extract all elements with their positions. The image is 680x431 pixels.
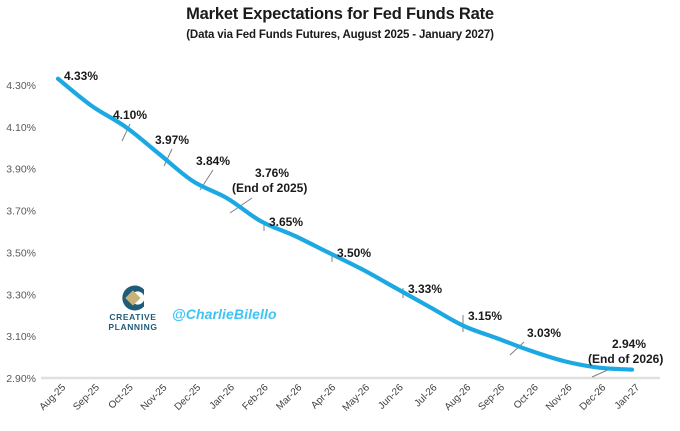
y-axis-tick-label: 4.10% xyxy=(6,122,36,134)
x-axis-tick-label: Aug-25 xyxy=(38,382,69,413)
data-point-label: 3.97% xyxy=(155,133,189,147)
y-axis-tick-label: 4.30% xyxy=(6,80,36,92)
chart-annotation-label: (End of 2025) xyxy=(232,181,307,195)
x-axis-tick-label: Apr-26 xyxy=(309,382,338,411)
chart-plot-area: 4.30%4.10%3.90%3.70%3.50%3.30%3.10%2.90%… xyxy=(0,0,680,431)
data-point-label: 3.03% xyxy=(527,326,561,340)
x-axis-tick-label: Jan-26 xyxy=(208,382,238,412)
x-axis-tick-label: Sep-25 xyxy=(71,382,102,413)
x-axis-tick-label: Mar-26 xyxy=(274,382,304,412)
x-axis-tick-label: Jul-26 xyxy=(412,382,439,409)
data-point-label: 3.15% xyxy=(468,309,502,323)
x-axis-tick-label: Nov-25 xyxy=(139,382,170,413)
x-axis-tick-label: Oct-26 xyxy=(512,382,541,411)
chart-annotation-label: (End of 2026) xyxy=(588,352,663,366)
x-axis-tick-label: Feb-26 xyxy=(241,382,271,412)
y-axis-tick-label: 3.70% xyxy=(6,206,36,218)
logo-line-2: PLANNING xyxy=(100,323,166,333)
social-handle: @CharlieBilello xyxy=(172,306,277,322)
y-axis-tick-label: 3.10% xyxy=(6,331,36,343)
x-axis-tick-label: Dec-26 xyxy=(578,382,609,413)
data-point-label: 4.10% xyxy=(113,108,147,122)
data-point-label: 3.50% xyxy=(337,246,371,260)
x-axis-tick-label: Jun-26 xyxy=(376,382,406,412)
y-axis-tick-label: 3.90% xyxy=(6,164,36,176)
data-point-label: 3.76% xyxy=(255,166,289,180)
y-axis-tick-label: 3.30% xyxy=(6,289,36,301)
x-axis-tick-labels: Aug-25Sep-25Oct-25Nov-25Dec-25Jan-26Feb-… xyxy=(38,382,643,414)
y-axis-tick-labels: 4.30%4.10%3.90%3.70%3.50%3.30%3.10%2.90% xyxy=(6,80,36,385)
creative-planning-c-logo-icon xyxy=(114,283,152,313)
chart-annotations: (End of 2025)(End of 2026) xyxy=(232,181,663,366)
x-axis-tick-label: May-26 xyxy=(341,382,373,414)
y-axis-tick-label: 2.90% xyxy=(6,373,36,385)
logo-wordmark: CREATIVE PLANNING xyxy=(100,313,166,332)
x-axis-tick-label: Sep-26 xyxy=(476,382,507,413)
chart-container: Market Expectations for Fed Funds Rate (… xyxy=(0,0,680,431)
data-point-label: 3.65% xyxy=(269,215,303,229)
data-point-label: 4.33% xyxy=(64,69,98,83)
x-axis-tick-label: Dec-25 xyxy=(173,382,204,413)
data-point-label: 3.33% xyxy=(408,282,442,296)
y-axis-tick-label: 3.50% xyxy=(6,247,36,259)
x-axis-tick-label: Oct-25 xyxy=(107,382,136,411)
data-point-label: 2.94% xyxy=(612,337,646,351)
x-axis-tick-label: Nov-26 xyxy=(544,382,575,413)
creative-planning-logo: CREATIVE PLANNING xyxy=(100,283,166,335)
x-axis-tick-label: Jan-27 xyxy=(613,382,643,412)
x-axis-tick-label: Aug-26 xyxy=(443,382,474,413)
data-point-label: 3.84% xyxy=(196,154,230,168)
